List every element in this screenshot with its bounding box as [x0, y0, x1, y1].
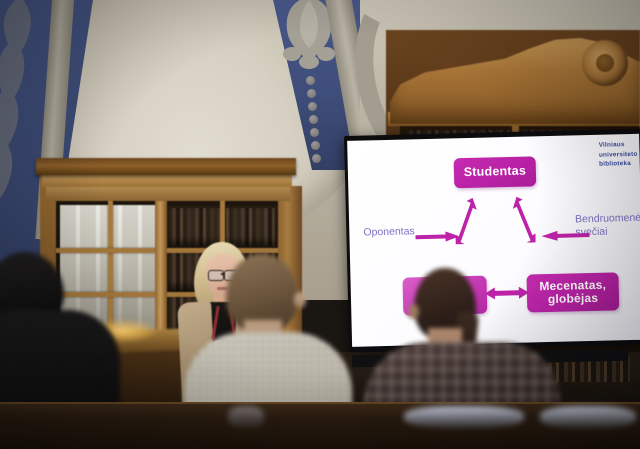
table-reflection [540, 406, 636, 428]
table-reflection [228, 406, 264, 428]
diagram-box-studentas[interactable]: Studentas [454, 156, 537, 188]
diagram-label-oponentas: Oponentas [363, 225, 415, 239]
audience-center-ear [294, 292, 306, 308]
table-reflection [404, 406, 524, 428]
arrow-right-icon [415, 231, 459, 242]
photograph-scene: Vilniaus universiteto biblioteka Student… [0, 0, 640, 449]
arrow-double-diagonal-left-icon [455, 196, 478, 247]
institution-logo-text: Vilniaus universiteto biblioteka [599, 140, 638, 170]
arrow-left-icon [541, 230, 589, 241]
audience-right-ear [408, 304, 419, 319]
arrow-double-diagonal-right-icon [512, 194, 535, 245]
